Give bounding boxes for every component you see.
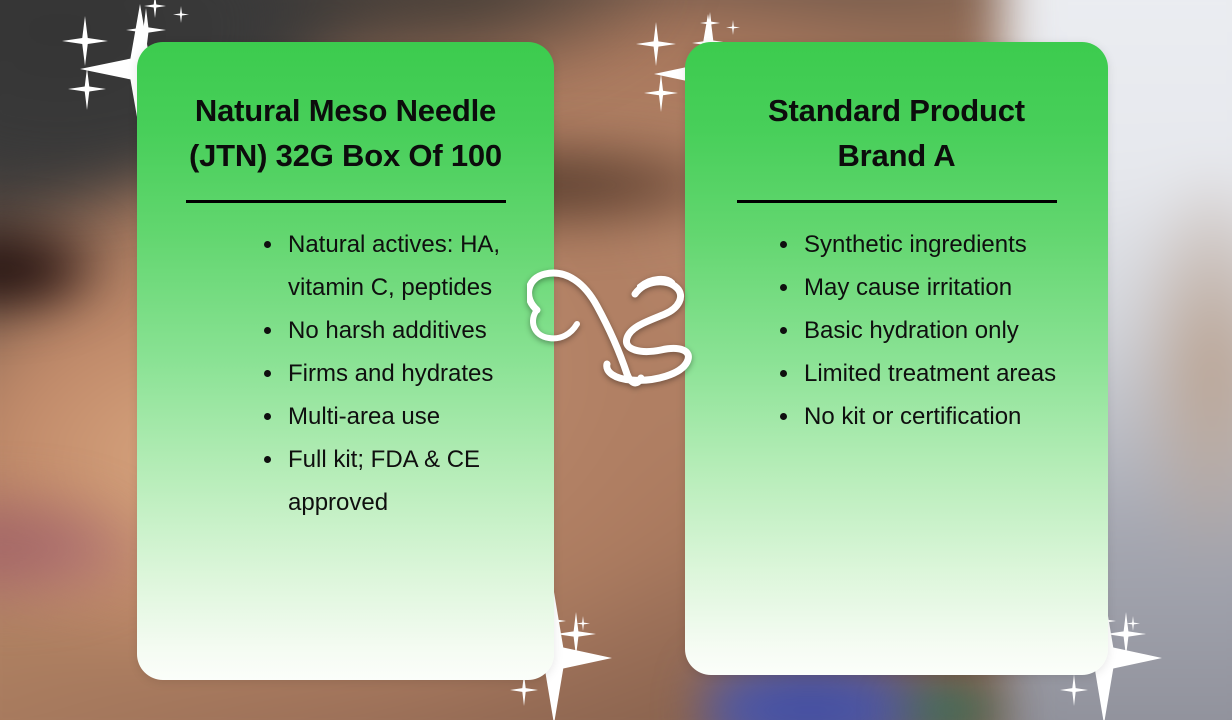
- list-item: Synthetic ingredients: [777, 223, 1072, 266]
- list-item: Firms and hydrates: [261, 352, 518, 395]
- card-left-title-line-2: (JTN) 32G Box Of 100: [189, 138, 502, 173]
- list-item: May cause irritation: [777, 266, 1072, 309]
- list-item: Basic hydration only: [777, 309, 1072, 352]
- list-item: Full kit; FDA & CE approved: [261, 438, 518, 524]
- card-right-title: Standard Product Brand A: [711, 88, 1082, 178]
- list-item: Multi-area use: [261, 395, 518, 438]
- card-left-bullet-list: Natural actives: HA, vitamin C, peptides…: [261, 223, 518, 524]
- comparison-card-left: Natural Meso Needle (JTN) 32G Box Of 100…: [137, 42, 554, 680]
- card-left-title-line-1: Natural Meso Needle: [195, 93, 496, 128]
- list-item: Natural actives: HA, vitamin C, peptides: [261, 223, 518, 309]
- list-item: No harsh additives: [261, 309, 518, 352]
- card-right-title-line-2: Brand A: [837, 138, 955, 173]
- card-right-divider: [737, 200, 1057, 203]
- card-right-content: Standard Product Brand A Synthetic ingre…: [685, 42, 1108, 675]
- card-right-bullet-list: Synthetic ingredients May cause irritati…: [777, 223, 1072, 438]
- card-left-title: Natural Meso Needle (JTN) 32G Box Of 100: [163, 88, 528, 178]
- list-item: Limited treatment areas: [777, 352, 1072, 395]
- card-left-divider: [186, 200, 506, 203]
- comparison-card-right: Standard Product Brand A Synthetic ingre…: [685, 42, 1108, 675]
- comparison-graphic-canvas: Natural Meso Needle (JTN) 32G Box Of 100…: [0, 0, 1232, 720]
- list-item: No kit or certification: [777, 395, 1072, 438]
- card-right-title-line-1: Standard Product: [768, 93, 1025, 128]
- card-left-content: Natural Meso Needle (JTN) 32G Box Of 100…: [137, 42, 554, 680]
